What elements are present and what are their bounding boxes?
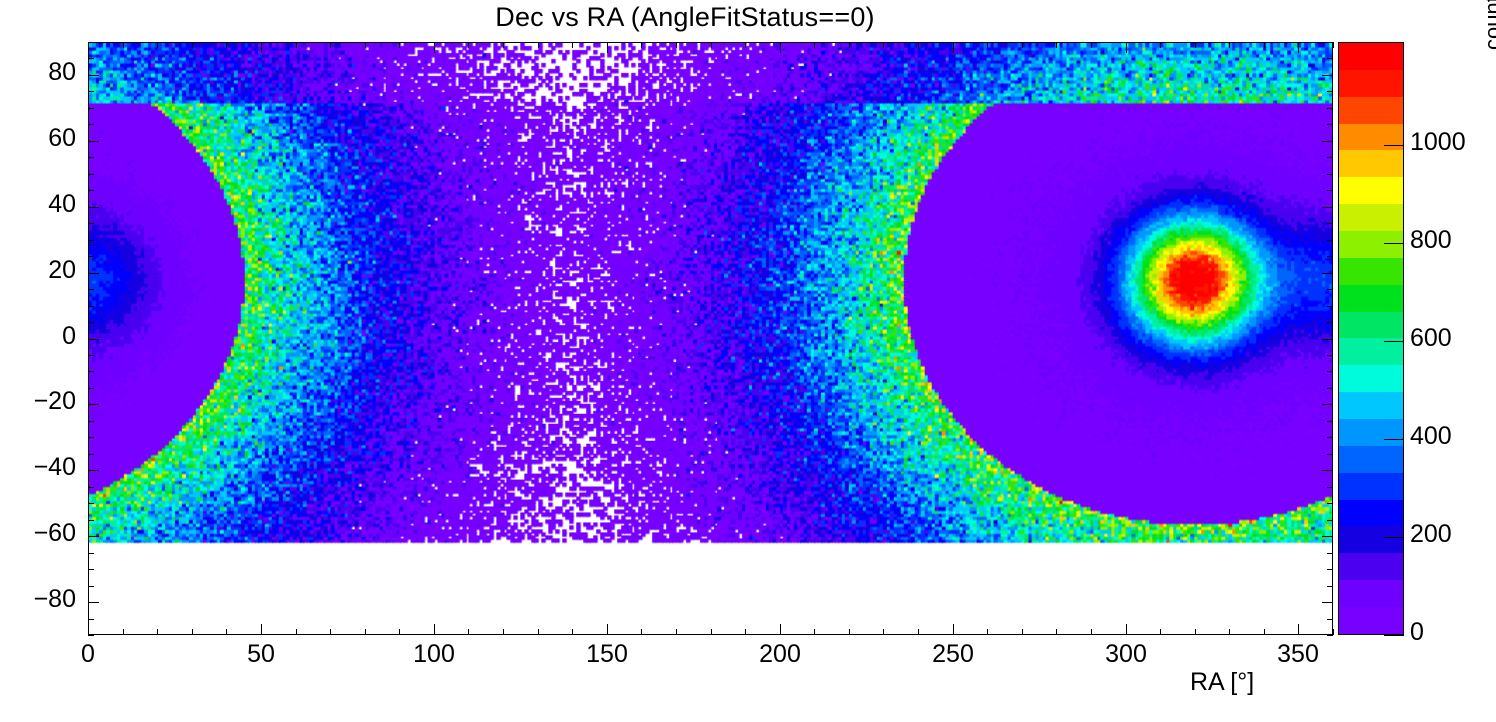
- y-tick-right: [1327, 503, 1333, 504]
- x-tick-top: [849, 42, 850, 48]
- y-tick-right: [1327, 635, 1333, 636]
- y-tick-right: [1322, 141, 1333, 142]
- x-tick: [123, 629, 124, 635]
- y-tick-right: [1327, 322, 1333, 323]
- x-tick-top: [1091, 42, 1092, 48]
- x-tick: [745, 629, 746, 635]
- y-tick: [88, 619, 94, 620]
- y-tick-right: [1327, 520, 1333, 521]
- y-tick: [88, 289, 94, 290]
- x-tick: [261, 624, 262, 635]
- x-tick-top: [745, 42, 746, 48]
- y-tick-right: [1327, 108, 1333, 109]
- y-tick: [88, 190, 94, 191]
- colorbar-tick: [1384, 537, 1404, 538]
- y-tick-right: [1327, 553, 1333, 554]
- x-tick-top: [1264, 42, 1265, 48]
- colorbar-band: [1339, 607, 1403, 634]
- y-tick-right: [1327, 454, 1333, 455]
- x-tick-label: 100: [374, 640, 494, 669]
- x-tick-top: [572, 42, 573, 48]
- x-tick-label: 50: [201, 640, 321, 669]
- y-tick-right: [1327, 240, 1333, 241]
- y-tick-label: 0: [0, 322, 76, 351]
- y-tick-right: [1327, 437, 1333, 438]
- x-tick-label: 350: [1238, 640, 1358, 669]
- x-tick-top: [1160, 42, 1161, 48]
- x-tick-top: [468, 42, 469, 48]
- y-tick: [88, 553, 94, 554]
- x-tick-top: [987, 42, 988, 48]
- x-tick-label: 300: [1066, 640, 1186, 669]
- y-tick: [88, 355, 94, 356]
- x-tick: [330, 629, 331, 635]
- x-tick-label: 0: [28, 640, 148, 669]
- y-tick-right: [1327, 174, 1333, 175]
- colorbar-tick: [1384, 439, 1404, 440]
- colorbar-tick-label: 600: [1410, 324, 1452, 353]
- y-tick-right: [1322, 339, 1333, 340]
- x-tick: [607, 624, 608, 635]
- x-tick: [641, 629, 642, 635]
- y-tick-right: [1322, 470, 1333, 471]
- x-tick: [883, 629, 884, 635]
- y-tick-label: 40: [0, 190, 76, 219]
- x-tick: [1195, 629, 1196, 635]
- colorbar-band: [1339, 338, 1403, 365]
- y-tick: [88, 91, 94, 92]
- x-tick-label: 150: [547, 640, 667, 669]
- x-tick-top: [1056, 42, 1057, 48]
- x-tick: [1333, 629, 1334, 635]
- x-tick-top: [503, 42, 504, 48]
- y-tick: [88, 75, 99, 76]
- x-tick-top: [226, 42, 227, 48]
- y-tick-right: [1327, 371, 1333, 372]
- x-tick: [399, 629, 400, 635]
- y-tick-label: 80: [0, 58, 76, 87]
- x-tick-top: [918, 42, 919, 48]
- colorbar-tick: [1384, 341, 1404, 342]
- x-tick-top: [399, 42, 400, 48]
- y-tick-label: −60: [0, 519, 76, 548]
- x-tick: [434, 624, 435, 635]
- y-tick-right: [1322, 602, 1333, 603]
- colorbar-band: [1339, 204, 1403, 231]
- y-tick: [88, 256, 94, 257]
- y-tick: [88, 421, 94, 422]
- colorbar-tick: [1384, 635, 1404, 636]
- colorbar-tick-label: 0: [1410, 618, 1424, 647]
- x-tick: [1056, 629, 1057, 635]
- colorbar-band: [1339, 419, 1403, 446]
- y-tick-label: −80: [0, 585, 76, 614]
- colorbar-band: [1339, 553, 1403, 580]
- colorbar-band: [1339, 150, 1403, 177]
- colorbar-band: [1339, 365, 1403, 392]
- y-tick: [88, 503, 94, 504]
- y-tick-label: −20: [0, 387, 76, 416]
- y-tick: [88, 339, 99, 340]
- plot-frame: [88, 42, 1333, 635]
- y-tick: [88, 437, 94, 438]
- colorbar: [1338, 42, 1404, 635]
- y-tick-right: [1327, 355, 1333, 356]
- x-tick: [1298, 624, 1299, 635]
- colorbar-band: [1339, 177, 1403, 204]
- y-tick: [88, 223, 94, 224]
- colorbar-tick-label: 200: [1410, 520, 1452, 549]
- x-tick-top: [434, 42, 435, 53]
- y-tick-label: 20: [0, 256, 76, 285]
- colorbar-band: [1339, 124, 1403, 151]
- colorbar-band: [1339, 258, 1403, 285]
- y-tick-right: [1327, 256, 1333, 257]
- x-tick-top: [1333, 42, 1334, 48]
- y-tick: [88, 174, 94, 175]
- x-tick: [849, 629, 850, 635]
- x-tick-top: [676, 42, 677, 48]
- x-tick-top: [1022, 42, 1023, 48]
- y-tick-right: [1327, 58, 1333, 59]
- y-tick-right: [1327, 388, 1333, 389]
- y-tick-right: [1322, 536, 1333, 537]
- x-tick: [1091, 629, 1092, 635]
- colorbar-band: [1339, 312, 1403, 339]
- x-tick: [572, 629, 573, 635]
- y-tick-right: [1322, 207, 1333, 208]
- root-canvas: Dec vs RA (AngleFitStatus==0) 0501001502…: [0, 0, 1496, 722]
- page-title: Dec vs RA (AngleFitStatus==0): [0, 2, 1370, 33]
- y-tick-label: 60: [0, 124, 76, 153]
- y-tick: [88, 322, 94, 323]
- y-tick-right: [1327, 421, 1333, 422]
- x-tick-top: [607, 42, 608, 53]
- x-tick: [503, 629, 504, 635]
- y-tick-right: [1327, 569, 1333, 570]
- x-tick-top: [1195, 42, 1196, 48]
- x-tick-top: [641, 42, 642, 48]
- x-tick: [365, 629, 366, 635]
- y-tick: [88, 273, 99, 274]
- x-tick-label: 250: [893, 640, 1013, 669]
- colorbar-band: [1339, 97, 1403, 124]
- colorbar-tick: [1384, 243, 1404, 244]
- x-tick-top: [538, 42, 539, 48]
- y-tick: [88, 388, 94, 389]
- colorbar-tick-label: 800: [1410, 226, 1452, 255]
- x-tick: [987, 629, 988, 635]
- colorbar-tick-label: 1000: [1410, 128, 1466, 157]
- y-tick: [88, 306, 94, 307]
- y-tick: [88, 602, 99, 603]
- x-tick-top: [330, 42, 331, 48]
- colorbar-title: count: [1480, 0, 1496, 50]
- y-tick-right: [1327, 289, 1333, 290]
- y-tick-label: −40: [0, 453, 76, 482]
- y-tick: [88, 520, 94, 521]
- y-tick: [88, 470, 99, 471]
- colorbar-band: [1339, 392, 1403, 419]
- x-tick-top: [261, 42, 262, 53]
- x-tick: [918, 629, 919, 635]
- x-tick: [1126, 624, 1127, 635]
- y-tick-right: [1322, 273, 1333, 274]
- y-tick: [88, 124, 94, 125]
- x-tick: [1022, 629, 1023, 635]
- x-tick: [468, 629, 469, 635]
- y-tick-right: [1327, 306, 1333, 307]
- x-tick: [296, 629, 297, 635]
- y-tick: [88, 404, 99, 405]
- x-tick: [711, 629, 712, 635]
- x-tick-top: [296, 42, 297, 48]
- colorbar-band: [1339, 526, 1403, 553]
- y-tick: [88, 141, 99, 142]
- y-tick-right: [1322, 75, 1333, 76]
- y-tick-right: [1327, 42, 1333, 43]
- colorbar-band: [1339, 43, 1403, 70]
- y-tick-right: [1327, 586, 1333, 587]
- x-tick-top: [883, 42, 884, 48]
- y-tick: [88, 487, 94, 488]
- colorbar-band: [1339, 473, 1403, 500]
- x-tick: [676, 629, 677, 635]
- y-tick-right: [1322, 404, 1333, 405]
- y-tick-right: [1327, 223, 1333, 224]
- y-tick: [88, 157, 94, 158]
- x-tick: [1229, 629, 1230, 635]
- x-tick-top: [1298, 42, 1299, 53]
- y-tick: [88, 207, 99, 208]
- heatmap-canvas: [89, 43, 1332, 634]
- x-tick-top: [365, 42, 366, 48]
- x-tick: [192, 629, 193, 635]
- x-tick-label: 200: [720, 640, 840, 669]
- x-tick-top: [1126, 42, 1127, 53]
- x-tick: [814, 629, 815, 635]
- y-tick: [88, 42, 94, 43]
- y-tick: [88, 454, 94, 455]
- y-tick-right: [1327, 157, 1333, 158]
- x-tick: [953, 624, 954, 635]
- x-tick-top: [192, 42, 193, 48]
- x-tick: [157, 629, 158, 635]
- colorbar-tick: [1384, 145, 1404, 146]
- x-tick: [538, 629, 539, 635]
- y-tick: [88, 536, 99, 537]
- x-tick-top: [88, 42, 89, 53]
- x-tick: [780, 624, 781, 635]
- x-tick: [88, 624, 89, 635]
- x-axis-title: RA [°]: [1190, 668, 1254, 697]
- colorbar-band: [1339, 580, 1403, 607]
- x-tick: [1264, 629, 1265, 635]
- x-tick-top: [1229, 42, 1230, 48]
- x-tick: [226, 629, 227, 635]
- y-tick: [88, 108, 94, 109]
- x-tick-top: [711, 42, 712, 48]
- y-tick-right: [1327, 190, 1333, 191]
- y-tick: [88, 586, 94, 587]
- y-tick: [88, 371, 94, 372]
- y-tick-right: [1327, 619, 1333, 620]
- x-tick-top: [953, 42, 954, 53]
- x-tick-top: [157, 42, 158, 48]
- colorbar-band: [1339, 70, 1403, 97]
- y-tick: [88, 58, 94, 59]
- y-tick: [88, 569, 94, 570]
- y-tick-right: [1327, 487, 1333, 488]
- colorbar-band: [1339, 500, 1403, 527]
- colorbar-band: [1339, 446, 1403, 473]
- x-tick: [1160, 629, 1161, 635]
- x-tick-top: [780, 42, 781, 53]
- y-tick-right: [1327, 124, 1333, 125]
- colorbar-band: [1339, 285, 1403, 312]
- y-tick: [88, 635, 94, 636]
- x-tick-top: [814, 42, 815, 48]
- y-tick-right: [1327, 91, 1333, 92]
- colorbar-band: [1339, 231, 1403, 258]
- x-tick-top: [123, 42, 124, 48]
- colorbar-tick-label: 400: [1410, 422, 1452, 451]
- y-tick: [88, 240, 94, 241]
